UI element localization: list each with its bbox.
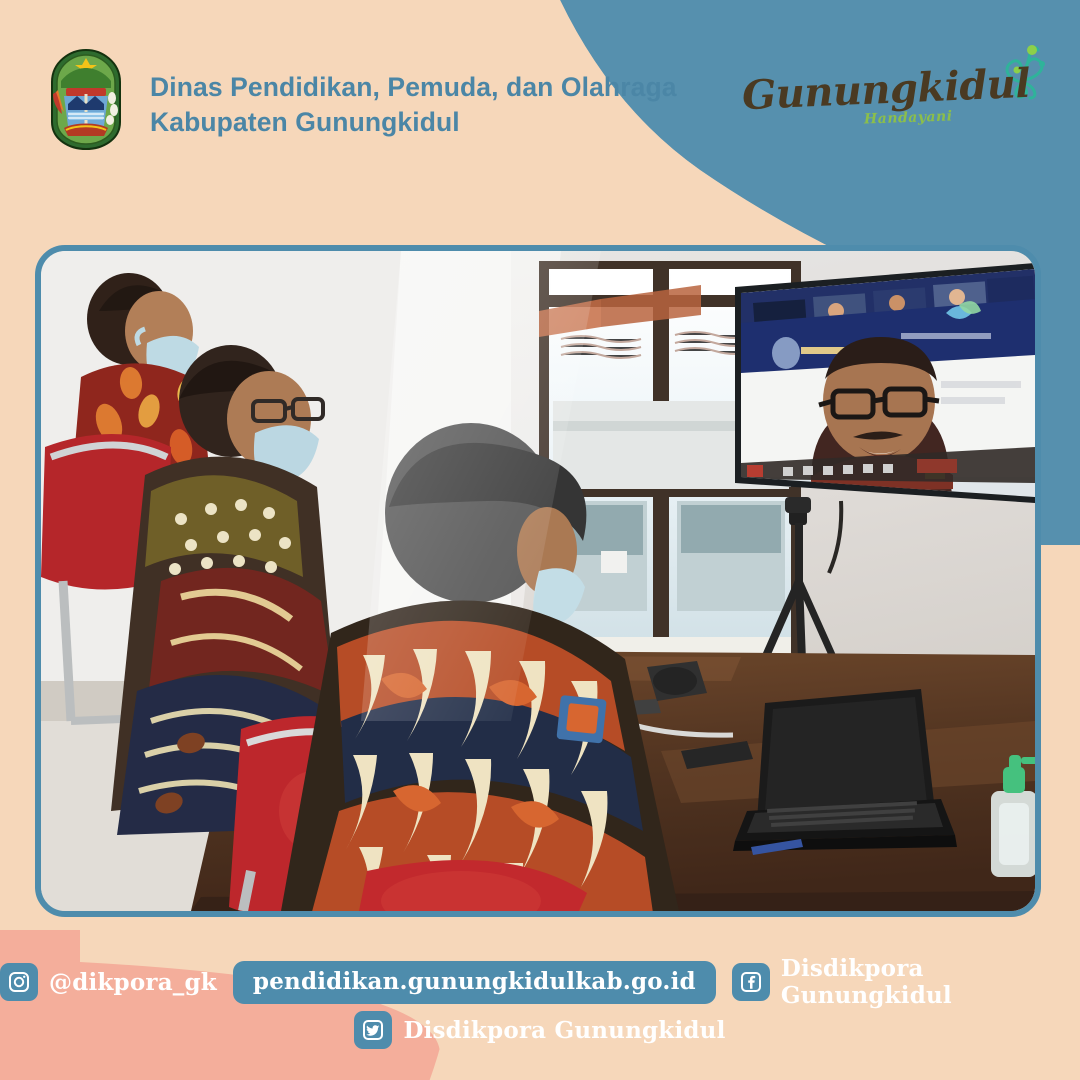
twitter-handle-label: Disdikpora Gunungkidul	[403, 1017, 725, 1044]
website-url-pill[interactable]: pendidikan.gunungkidulkab.go.id	[233, 961, 716, 1004]
header: Dinas Pendidikan, Pemuda, dan Olahraga K…	[44, 48, 677, 152]
brand-wordmark: Gunungkidul	[741, 64, 1031, 117]
facebook-handle-label: Disdikpora Gunungkidul	[781, 955, 1080, 1009]
social-links-row-2: Disdikpora Gunungkidul	[0, 1011, 1080, 1049]
instagram-handle-label: @dikpora_gk	[49, 969, 217, 996]
photo-frame	[35, 245, 1041, 917]
page-title-line-1: Dinas Pendidikan, Pemuda, dan Olahraga	[150, 70, 677, 105]
social-links-row-1: @dikpora_gk pendidikan.gunungkidulkab.go…	[0, 955, 1080, 1009]
social-media-post-canvas: Dinas Pendidikan, Pemuda, dan Olahraga K…	[0, 0, 1080, 1080]
twitter-link[interactable]: Disdikpora Gunungkidul	[354, 1011, 725, 1049]
brand-tagline: Handayani	[864, 108, 953, 127]
gunungkidul-brand-logo: Gunungkidul Handayani	[808, 40, 1058, 150]
gunungkidul-regency-crest-icon	[44, 48, 128, 152]
twitter-icon	[354, 1011, 392, 1049]
instagram-icon	[0, 963, 38, 1001]
instagram-link[interactable]: @dikpora_gk	[0, 963, 217, 1001]
meeting-room-video-conference-photo	[41, 251, 1035, 911]
header-title-block: Dinas Pendidikan, Pemuda, dan Olahraga K…	[150, 48, 677, 140]
photo-illustration	[41, 251, 1035, 911]
facebook-icon	[732, 963, 770, 1001]
page-title-line-2: Kabupaten Gunungkidul	[150, 105, 677, 140]
facebook-link[interactable]: Disdikpora Gunungkidul	[732, 955, 1080, 1009]
